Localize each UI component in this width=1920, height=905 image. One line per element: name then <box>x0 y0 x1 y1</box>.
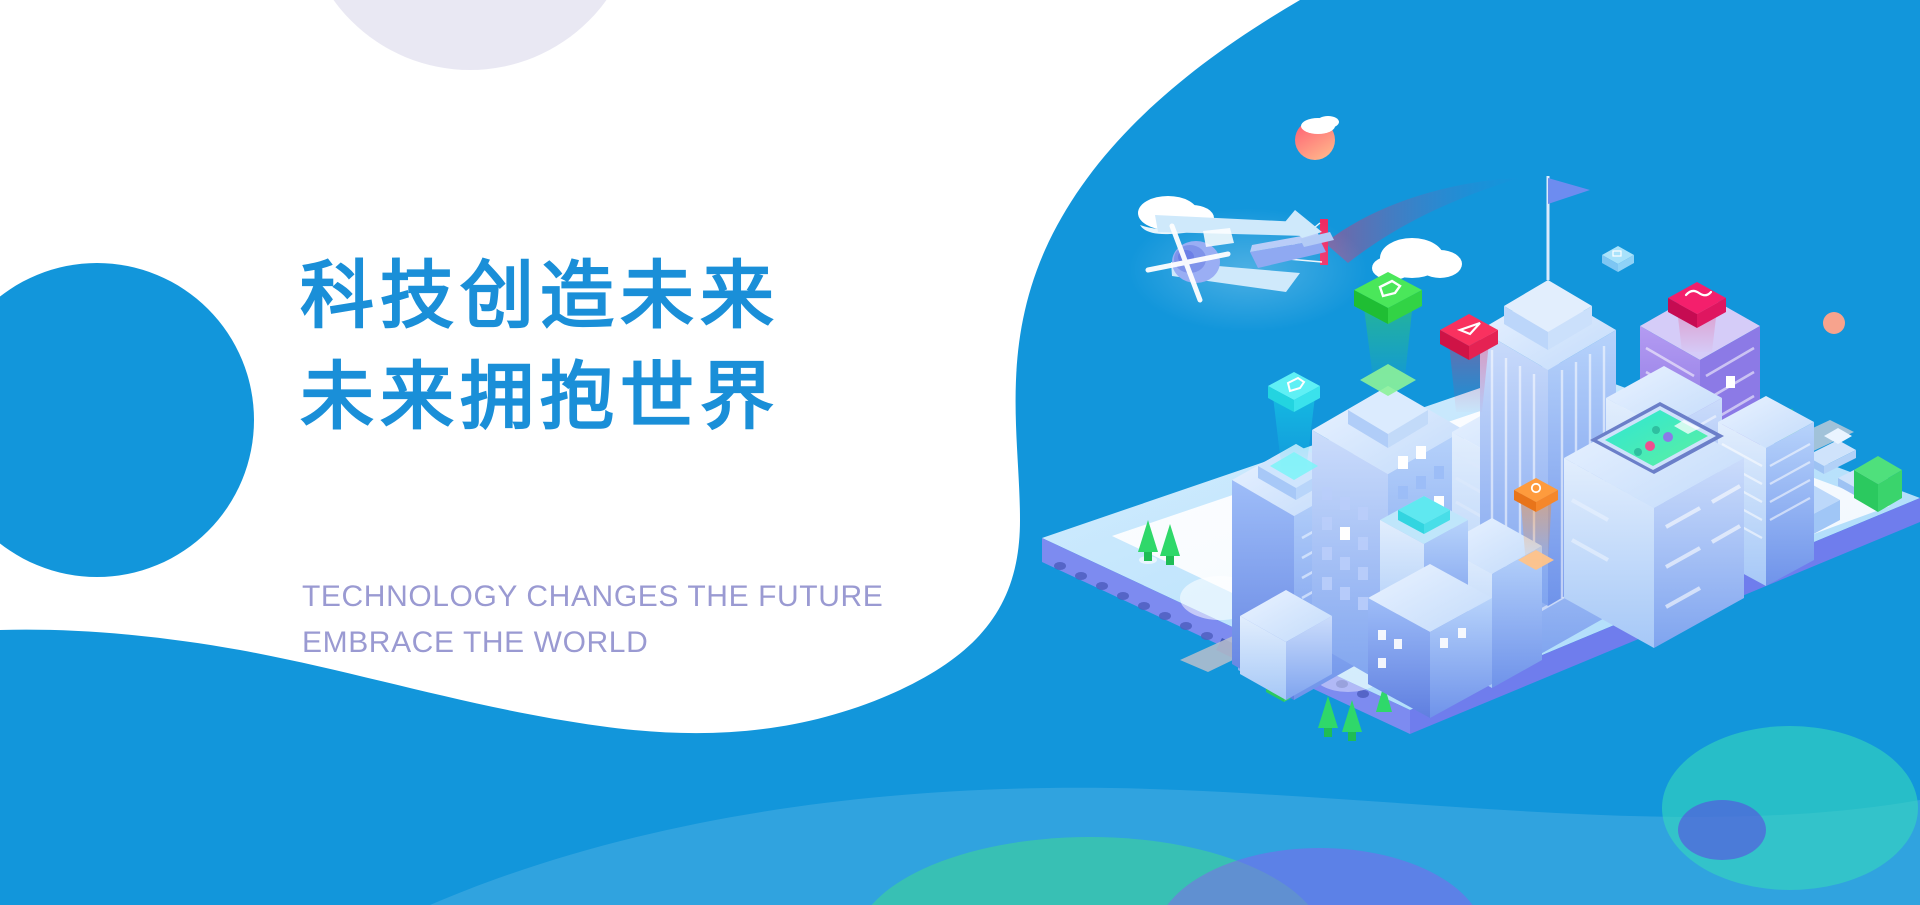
headline-line-1: 科技创造未来 <box>300 246 1000 347</box>
headline-line-2: 未来拥抱世界 <box>300 347 1000 448</box>
headline-block: 科技创造未来 未来拥抱世界 <box>300 246 1000 447</box>
background-shapes <box>0 0 1920 905</box>
subtitle-line-2: EMBRACE THE WORLD <box>302 620 1062 666</box>
subtitle-block: TECHNOLOGY CHANGES THE FUTURE EMBRACE TH… <box>302 574 1062 665</box>
hero-banner: 科技创造未来 未来拥抱世界 TECHNOLOGY CHANGES THE FUT… <box>0 0 1920 905</box>
decor-ellipse-purple <box>1678 800 1766 860</box>
subtitle-line-1: TECHNOLOGY CHANGES THE FUTURE <box>302 574 1062 620</box>
